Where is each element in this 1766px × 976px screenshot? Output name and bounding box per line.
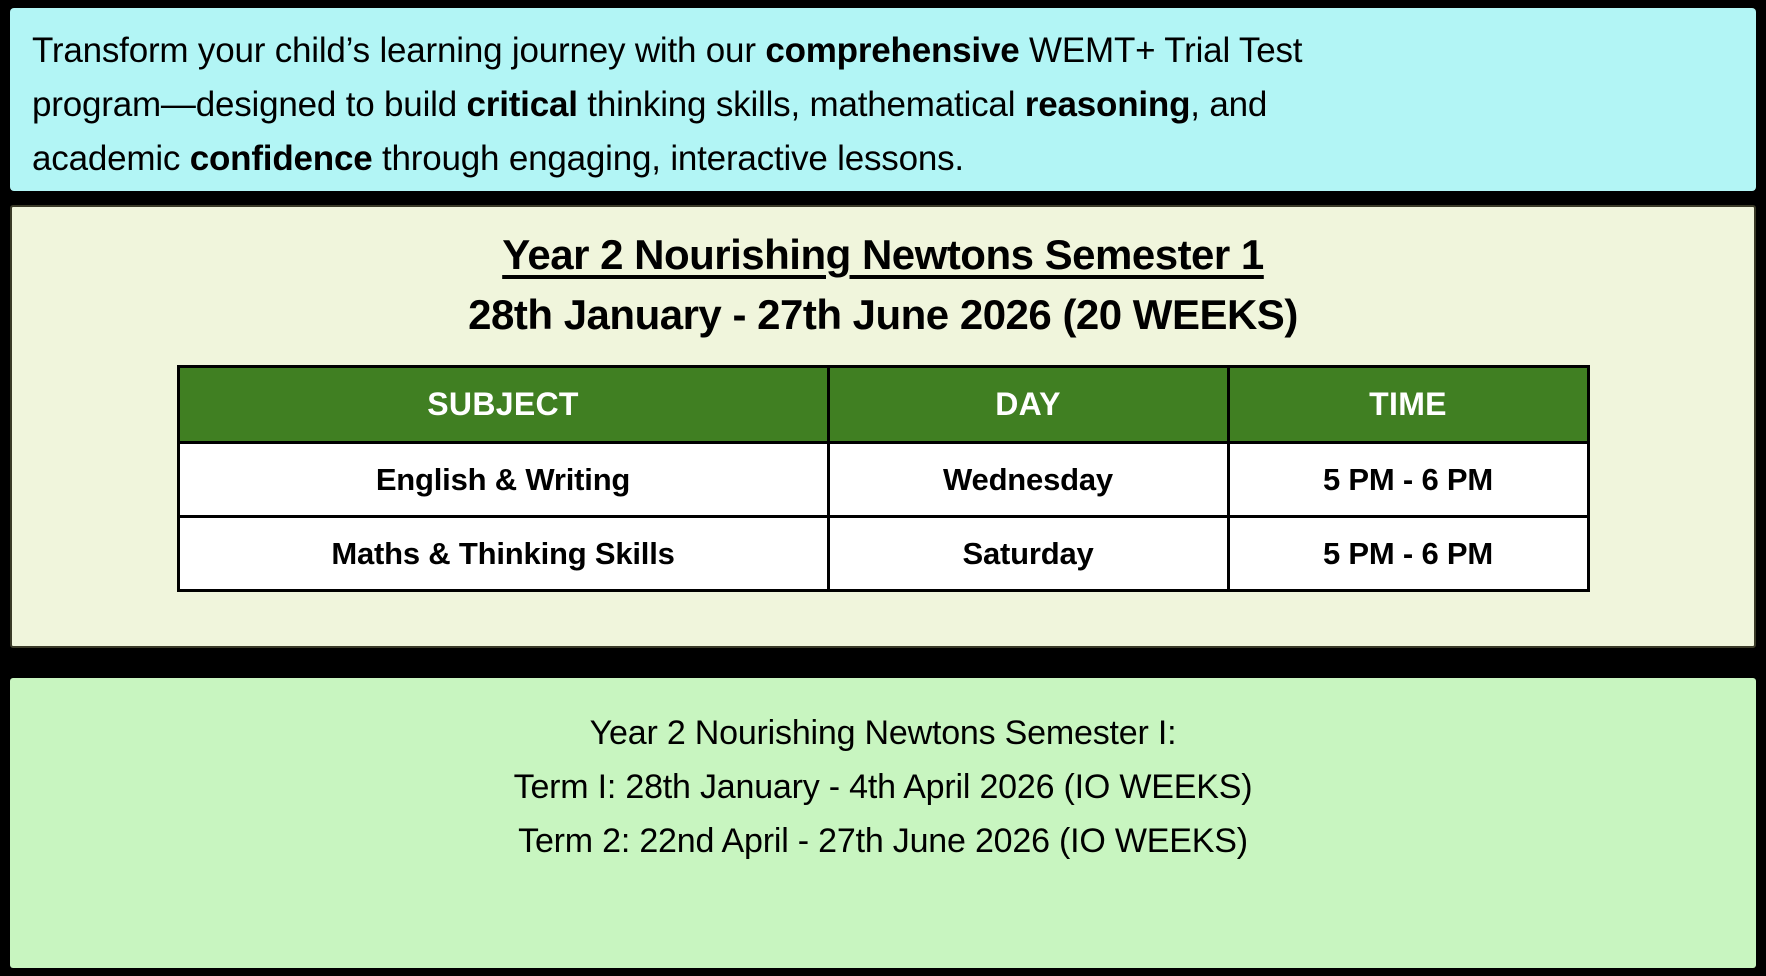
intro-line-1: Transform your child’s learning journey … [32, 24, 1734, 78]
cell-time: 5 PM - 6 PM [1228, 517, 1588, 591]
cell-day: Wednesday [828, 443, 1228, 517]
divider-bottom [10, 648, 1756, 678]
intro-line-3-bold: confidence [190, 139, 373, 178]
intro-line-2-pre: program—designed to build [32, 85, 467, 124]
intro-line-1-bold: comprehensive [765, 31, 1019, 70]
terms-heading: Year 2 Nourishing Newtons Semester I: [590, 706, 1177, 760]
schedule-table: SUBJECT DAY TIME English & Writing Wedne… [177, 365, 1590, 592]
intro-line-3: academic confidence through engaging, in… [32, 132, 1734, 186]
terms-line-1: Term I: 28th January - 4th April 2026 (I… [514, 760, 1253, 814]
schedule-title: Year 2 Nourishing Newtons Semester 1 [502, 229, 1264, 281]
intro-line-3-pre: academic [32, 139, 190, 178]
schedule-panel: Year 2 Nourishing Newtons Semester 1 28t… [10, 205, 1756, 648]
table-header-row: SUBJECT DAY TIME [178, 367, 1588, 443]
intro-line-1-pre: Transform your child’s learning journey … [32, 31, 765, 70]
table-header-subject: SUBJECT [178, 367, 828, 443]
cell-subject: Maths & Thinking Skills [178, 517, 828, 591]
cell-subject: English & Writing [178, 443, 828, 517]
schedule-subtitle: 28th January - 27th June 2026 (20 WEEKS) [468, 287, 1298, 343]
cell-day: Saturday [828, 517, 1228, 591]
terms-panel: Year 2 Nourishing Newtons Semester I: Te… [10, 678, 1756, 968]
intro-line-2-bold-critical: critical [467, 85, 578, 124]
cell-time: 5 PM - 6 PM [1228, 443, 1588, 517]
intro-line-2: program—designed to build critical think… [32, 78, 1734, 132]
intro-line-2-post: , and [1190, 85, 1267, 124]
table-row: Maths & Thinking Skills Saturday 5 PM - … [178, 517, 1588, 591]
divider-top [10, 191, 1756, 205]
terms-line-2: Term 2: 22nd April - 27th June 2026 (IO … [518, 814, 1248, 868]
intro-line-2-mid: thinking skills, mathematical [578, 85, 1025, 124]
promo-flyer: Transform your child’s learning journey … [0, 0, 1766, 976]
intro-line-1-post: WEMT+ Trial Test [1020, 31, 1303, 70]
intro-banner: Transform your child’s learning journey … [10, 8, 1756, 191]
intro-line-2-bold-reasoning: reasoning [1025, 85, 1190, 124]
intro-line-3-post: through engaging, interactive lessons. [372, 139, 963, 178]
table-row: English & Writing Wednesday 5 PM - 6 PM [178, 443, 1588, 517]
table-header-day: DAY [828, 367, 1228, 443]
table-header-time: TIME [1228, 367, 1588, 443]
